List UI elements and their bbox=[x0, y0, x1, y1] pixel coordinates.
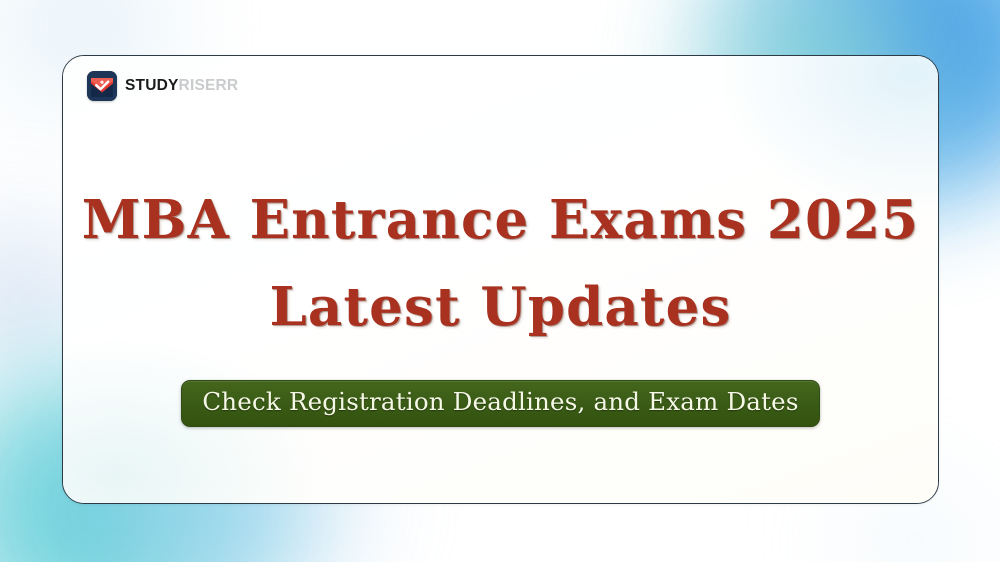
envelope-check-icon bbox=[87, 71, 117, 101]
hero-card: STUDYRISERR MBA Entrance Exams 2025 Late… bbox=[62, 55, 939, 504]
brand-wordmark: STUDYRISERR bbox=[125, 78, 238, 94]
poster-page: STUDYRISERR MBA Entrance Exams 2025 Late… bbox=[0, 0, 1000, 562]
brand-logo[interactable]: STUDYRISERR bbox=[87, 71, 238, 101]
page-title-line-2: Latest Updates bbox=[63, 281, 938, 334]
page-title-line-1: MBA Entrance Exams 2025 bbox=[82, 189, 920, 251]
hero-card-inner: STUDYRISERR MBA Entrance Exams 2025 Late… bbox=[63, 56, 938, 503]
page-title: MBA Entrance Exams 2025 Latest Updates bbox=[63, 194, 938, 334]
brand-name-primary: STUDY bbox=[125, 77, 179, 94]
subtitle-banner: Check Registration Deadlines, and Exam D… bbox=[181, 380, 819, 427]
brand-name-secondary: RISERR bbox=[179, 77, 239, 94]
subtitle-banner-wrap: Check Registration Deadlines, and Exam D… bbox=[63, 380, 938, 427]
